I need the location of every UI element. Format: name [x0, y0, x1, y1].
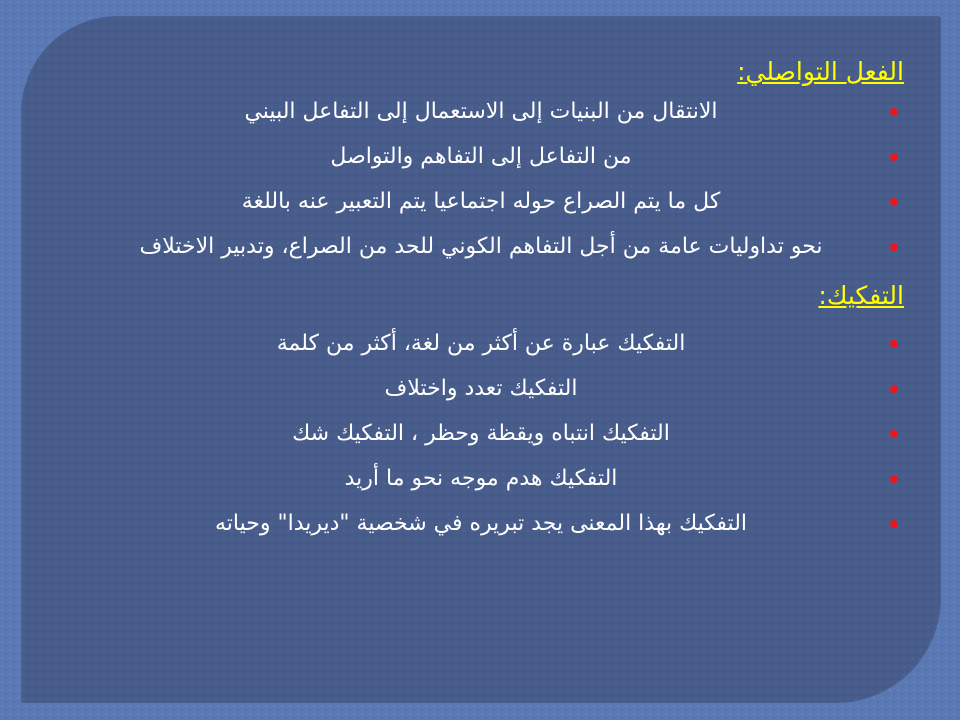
bullet-list-communicative-act: الانتقال من البنيات إلى الاستعمال إلى ال… [58, 89, 904, 269]
list-item: التفكيك انتباه ويقظة وحظر ، التفكيك شك [58, 411, 904, 456]
bullet-text: التفكيك تعدد واختلاف [385, 376, 578, 401]
bullet-text: من التفاعل إلى التفاهم والتواصل [330, 144, 631, 169]
bullet-text: التفكيك هدم موجه نحو ما أريد [345, 466, 618, 491]
list-item: التفكيك بهذا المعنى يجد تبريره في شخصية … [58, 501, 904, 546]
presentation-slide: الفعل التواصلي: الانتقال من البنيات إلى … [0, 0, 960, 720]
list-item: التفكيك تعدد واختلاف [58, 366, 904, 411]
bullet-text: التفكيك عبارة عن أكثر من لغة، أكثر من كل… [277, 331, 686, 356]
list-item: الانتقال من البنيات إلى الاستعمال إلى ال… [58, 89, 904, 134]
heading-spacer [58, 313, 904, 321]
list-item: التفكيك عبارة عن أكثر من لغة، أكثر من كل… [58, 321, 904, 366]
section-heading-deconstruction: التفكيك: [58, 281, 904, 313]
section-heading-communicative-act: الفعل التواصلي: [58, 57, 904, 89]
list-item: التفكيك هدم موجه نحو ما أريد [58, 456, 904, 501]
section-deconstruction: التفكيك: التفكيك عبارة عن أكثر من لغة، أ… [58, 281, 904, 546]
section-spacer [58, 269, 904, 281]
bullet-text: كل ما يتم الصراع حوله اجتماعيا يتم التعب… [242, 189, 721, 214]
list-item: كل ما يتم الصراع حوله اجتماعيا يتم التعب… [58, 179, 904, 224]
bullet-list-deconstruction: التفكيك عبارة عن أكثر من لغة، أكثر من كل… [58, 321, 904, 546]
bullet-text: الانتقال من البنيات إلى الاستعمال إلى ال… [244, 99, 717, 124]
list-item: نحو تداوليات عامة من أجل التفاهم الكوني … [58, 224, 904, 269]
bullet-text: التفكيك انتباه ويقظة وحظر ، التفكيك شك [292, 421, 670, 446]
section-communicative-act: الفعل التواصلي: الانتقال من البنيات إلى … [58, 57, 904, 269]
bullet-text: التفكيك بهذا المعنى يجد تبريره في شخصية … [215, 511, 747, 536]
list-item: من التفاعل إلى التفاهم والتواصل [58, 134, 904, 179]
slide-body: الفعل التواصلي: الانتقال من البنيات إلى … [22, 17, 940, 702]
slide-content-panel: الفعل التواصلي: الانتقال من البنيات إلى … [22, 17, 940, 702]
bullet-text: نحو تداوليات عامة من أجل التفاهم الكوني … [139, 234, 822, 259]
